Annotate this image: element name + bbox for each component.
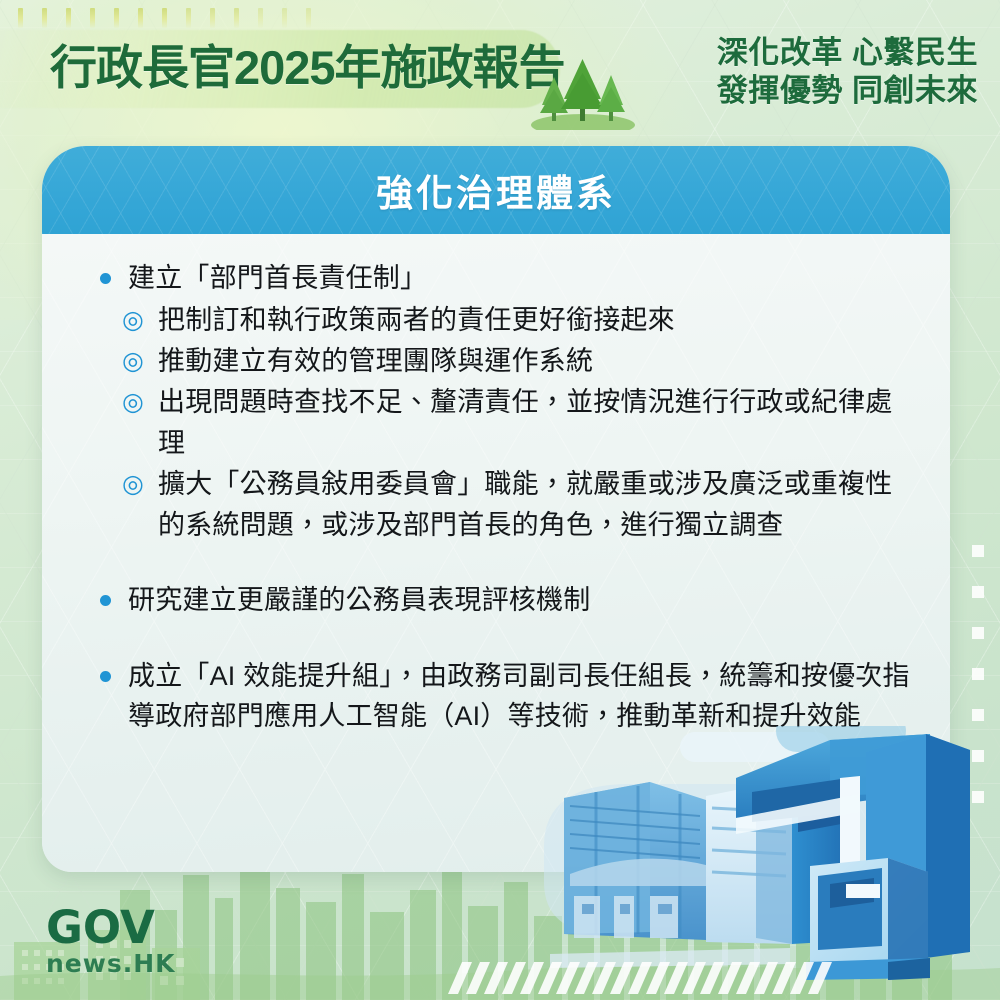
logo-secondary-text: news.HK [46,951,176,976]
bullet-item: 研究建立更嚴謹的公務員表現評核機制 [92,580,916,620]
bullet-item: 成立「AI 效能提升組」，由政務司副司長任組長，統籌和按優次指導政府部門應用人工… [92,656,916,736]
slogan-block: 深化改革 心繫民生 發揮優勢 同創未來 [717,34,978,110]
page-title: 行政長官2025年施政報告 [50,40,565,96]
sub-bullet-item: 把制訂和執行政策兩者的責任更好銜接起來 [92,300,916,341]
content-block: 建立「部門首長責任制」 把制訂和執行政策兩者的責任更好銜接起來 推動建立有效的管… [92,258,916,546]
sub-bullet-item: 推動建立有效的管理團隊與運作系統 [92,341,916,382]
govhk-news-logo: GOV news.HK [46,905,176,976]
sub-bullet-item: 出現問題時查找不足、釐清責任，並按情況進行行政或紀律處理 [92,382,916,464]
sub-bullet-list: 把制訂和執行政策兩者的責任更好銜接起來 推動建立有效的管理團隊與運作系統 出現問… [92,300,916,546]
content-block: 成立「AI 效能提升組」，由政務司副司長任組長，統籌和按優次指導政府部門應用人工… [92,656,916,736]
slogan-line-1: 深化改革 心繫民生 [717,34,978,72]
content-block: 研究建立更嚴謹的公務員表現評核機制 [92,580,916,620]
card-title: 強化治理體系 [376,163,616,217]
bullet-item: 建立「部門首長責任制」 [92,258,916,298]
diagonal-hatch-icon [440,952,870,1000]
right-edge-squares-decor [972,545,986,803]
poster-canvas: 行政長官2025年施政報告 深化改革 心繫民生 發揮優勢 同創未來 [0,0,1000,1000]
poster-header: 行政長官2025年施政報告 深化改革 心繫民生 發揮優勢 同創未來 [0,0,1000,140]
card-header: 強化治理體系 [42,146,950,234]
slogan-line-2: 發揮優勢 同創未來 [717,72,978,110]
trees-icon [525,55,635,130]
tick-marks-decor [18,8,318,30]
logo-primary-text: GOV [46,905,176,950]
sub-bullet-item: 擴大「公務員敍用委員會」職能，就嚴重或涉及廣泛或重複性的系統問題，或涉及部門首長… [92,464,916,546]
